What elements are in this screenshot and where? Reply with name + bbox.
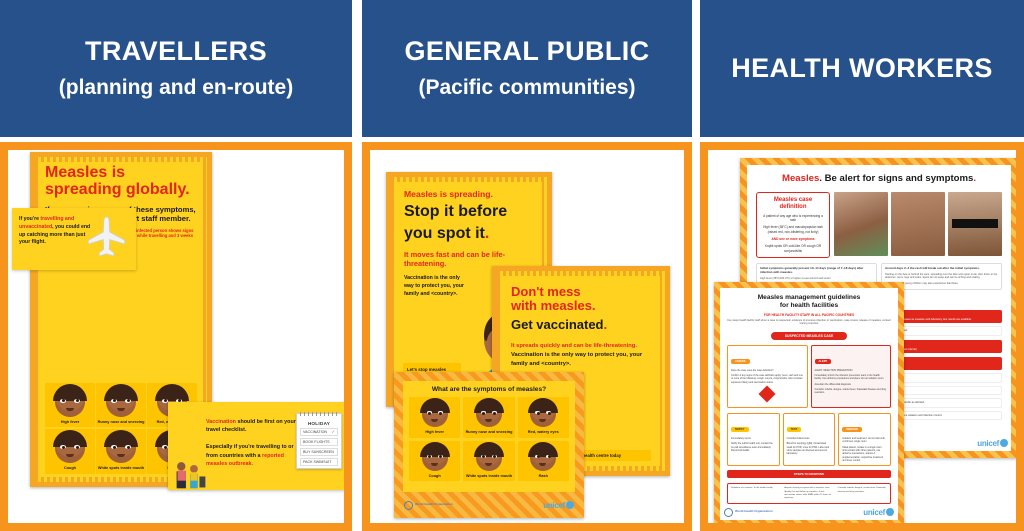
- clinical-photos: [834, 192, 1002, 258]
- panel-travellers-title: TRAVELLERS: [85, 36, 267, 67]
- photo-rash-back: [834, 192, 888, 256]
- guidelines-title-line2: for health facilities: [727, 302, 891, 310]
- symptom-item: White spots inside mouth: [96, 429, 146, 474]
- unicef-mark-icon: [1000, 439, 1008, 447]
- airplane-icon: [84, 214, 132, 262]
- flow-box-tab: MANAGE: [842, 427, 862, 432]
- face-red-watery-eyes-icon: [530, 401, 556, 427]
- flow-footer-col-3: Consider rubella, dengue, scarlet fever,…: [838, 487, 887, 499]
- case-definition-line-4: Koplik spots OR cold-like OR cough OR co…: [760, 244, 826, 253]
- guidelines-subtitle: FOR HEALTH FACILITY STAFF IN ALL PACIFIC…: [727, 313, 891, 317]
- note-item: Starting on the face or behind the ears,…: [885, 273, 998, 280]
- case-definition-title: Measles case definition: [760, 197, 826, 211]
- face-cough-icon: [422, 445, 448, 471]
- symptom-label: Cough: [64, 466, 76, 471]
- travellers-illustration-icon: [174, 446, 208, 490]
- notepad-item: BUY SUNSCREEN: [300, 448, 338, 456]
- poster-travelling-unvaccinated[interactable]: If you're travelling and unvaccinated, y…: [12, 208, 136, 270]
- symptom-label: Rash: [539, 474, 548, 479]
- flow-box-text: Immediately inform the infection prevent…: [815, 374, 888, 381]
- panel-health-workers-title: HEALTH WORKERS: [731, 53, 993, 84]
- poster-body-rest: Vaccination is the only way to protect y…: [511, 352, 642, 367]
- case-definition-line-1: A patient of any age who is experiencing…: [760, 214, 826, 223]
- case-definition-line-2: High fever (38°C) and maculopapular rash…: [760, 225, 826, 234]
- unicef-logo-label: unicef: [543, 501, 565, 510]
- poster-headline-line1: Stop it before: [404, 203, 534, 221]
- poster-body: Vaccination is the only way to protect y…: [404, 275, 464, 298]
- flow-box-tab: ASSESS: [731, 359, 750, 364]
- poster-title: Measles. Be alert for signs and symptoms…: [756, 173, 1002, 184]
- poster-title-rest: . Be alert for signs and symptoms: [819, 173, 973, 184]
- poster-headline-line1: Don't mess: [511, 285, 651, 299]
- flow-footer-col-1: Definition of a contact / In the health …: [731, 487, 780, 499]
- symptom-label: Red, watery eyes: [528, 430, 559, 435]
- panel-general-public-title: GENERAL PUBLIC: [404, 36, 649, 67]
- checklist-overlay-text: Vaccination should be first on your trav…: [206, 418, 298, 468]
- flow-box-text-2: Consider rubella, dengue, scarlet fever,…: [815, 388, 888, 395]
- poster-logos: World Health Organization unicef: [394, 494, 584, 516]
- face-white-spots-icon: [476, 445, 502, 471]
- who-globe-icon: [724, 508, 733, 517]
- holiday-notepad: HOLIDAY VACCINATION BOOK FLIGHTS BUY SUN…: [296, 413, 342, 469]
- flow-box-test: TEST Consider/collect tests Blood for se…: [783, 413, 836, 467]
- case-definition-row: Measles case definition A patient of any…: [756, 192, 1002, 258]
- guidelines-subtitle-2: Key steps health facility staff when a c…: [727, 319, 891, 326]
- who-globe-icon: [404, 501, 413, 510]
- face-runny-nose-icon: [106, 387, 136, 417]
- panel-general-public-body: Measles is spreading. Stop it before you…: [362, 142, 692, 531]
- poster-title-highlight: Measles: [782, 173, 819, 184]
- symptom-item: Rash: [518, 441, 569, 482]
- flow-box-text: Notify the public health unit, contact t…: [731, 442, 776, 452]
- poster-measles-management-guidelines[interactable]: Measles management guidelines for health…: [714, 282, 904, 523]
- poster-headline-line2: you spot it.: [404, 225, 534, 243]
- face-high-fever-icon: [55, 387, 85, 417]
- symptom-item: High fever: [45, 383, 95, 428]
- flow-row-actions: NOTIFY Immediately report Notify the pub…: [727, 413, 891, 467]
- symptom-item: Cough: [409, 441, 460, 482]
- panel-travellers-stage: Measles is spreading globally. If you ex…: [8, 150, 344, 523]
- poster-symptoms-of-measles[interactable]: What are the symptoms of measles? High f…: [394, 372, 584, 518]
- flow-node-steps-to-respond: STEPS TO RESPOND: [727, 470, 891, 478]
- unicef-logo: unicef: [863, 508, 894, 517]
- poster-kicker: Measles is spreading.: [404, 189, 534, 199]
- panel-travellers-subtitle: (planning and en-route): [59, 76, 293, 100]
- panel-general-public-subtitle: (Pacific communities): [418, 76, 635, 100]
- unicef-logo: unicef: [977, 439, 1008, 448]
- symptom-item: Runny nose and sneezing: [96, 383, 146, 428]
- checklist-text-highlight-1: Vaccination: [206, 419, 236, 425]
- privacy-bar: [952, 219, 997, 228]
- symptom-label: Cough: [429, 474, 441, 479]
- poster-logos: World Health Organization unicef: [714, 501, 904, 523]
- unicef-logo-label: unicef: [863, 508, 885, 517]
- symptom-label: White spots inside mouth: [98, 466, 144, 471]
- unicef-logo-label: unicef: [977, 439, 999, 448]
- flow-box-tab: ALERT: [815, 359, 832, 364]
- symptom-label: Runny nose and sneezing: [466, 430, 513, 435]
- flow-box-tab: TEST: [787, 427, 802, 432]
- symptom-label: White spots inside mouth: [466, 474, 512, 479]
- flow-box-notify: NOTIFY Immediately report Notify the pub…: [727, 413, 780, 467]
- poster-title: What are the symptoms of measles?: [409, 386, 569, 393]
- symptom-item: Cough: [45, 429, 95, 474]
- flow-box-heading: ALERT: INFECTION PREVENTION: [815, 369, 888, 372]
- symptom-item: Red, watery eyes: [518, 397, 569, 438]
- flow-footer-col-2: Anyone sharing air space with a measles …: [784, 487, 833, 499]
- overlay-text-part-1: If you're: [19, 216, 40, 222]
- photo-rash-face: [948, 192, 1002, 256]
- flow-box-heading: Consider/collect tests: [787, 437, 832, 440]
- symptom-item: Runny nose and sneezing: [463, 397, 514, 438]
- unicef-logo: unicef: [543, 501, 574, 510]
- unicef-mark-icon: [886, 508, 894, 516]
- note-item: High fever (38°C/100.4°F) or higher on-s…: [760, 277, 873, 281]
- symptom-grid: High fever Runny nose and sneezing Red, …: [409, 397, 569, 481]
- symptom-item: White spots inside mouth: [463, 441, 514, 482]
- poster-headline: Measles is spreading globally.: [45, 165, 197, 199]
- unicef-mark-icon: [566, 501, 574, 509]
- flow-node-suspected-case: SUSPECTED MEASLES CASE: [771, 332, 847, 340]
- symptom-label: High fever: [425, 430, 444, 435]
- notepad-item: BOOK FLIGHTS: [300, 438, 338, 446]
- symptom-label: High fever: [61, 420, 80, 425]
- flow-box-heading: Does the case meet the case definition?: [731, 369, 804, 372]
- notepad-item: VACCINATION: [300, 428, 338, 436]
- panel-health-workers: HEALTH WORKERS Measles. Be alert for sig…: [700, 0, 1024, 531]
- face-rash-icon: [530, 445, 556, 471]
- flow-box-assess: ASSESS Does the case meet the case defin…: [727, 345, 808, 408]
- face-cough-icon: [55, 433, 85, 463]
- face-runny-nose-icon: [476, 401, 502, 427]
- flow-box-tab: NOTIFY: [731, 427, 749, 432]
- notepad-title: HOLIDAY: [297, 421, 341, 426]
- panel-travellers-body: Measles is spreading globally. If you ex…: [0, 142, 352, 531]
- flow-box-text: Blood for serology (IgM), throat/nasal s…: [787, 442, 832, 455]
- flow-decision-diamond: [759, 385, 776, 402]
- panel-health-workers-header: HEALTH WORKERS: [700, 0, 1024, 137]
- poster-headline-line3: Get vaccinated.: [511, 318, 651, 332]
- symptom-item: High fever: [409, 397, 460, 438]
- flow-box-heading: Isolation and treatment: do not wait unt…: [842, 437, 887, 444]
- symptom-label: Runny nose and sneezing: [98, 420, 145, 425]
- flow-box-text: Confirm if any signs of the case definit…: [731, 374, 804, 384]
- flow-row-assess: ASSESS Does the case meet the case defin…: [727, 345, 891, 408]
- note-title: Around days 2–4 the rash will break out …: [885, 267, 998, 271]
- poster-content: What are the symptoms of measles? High f…: [403, 381, 575, 492]
- guidelines-title-line1: Measles management guidelines: [727, 294, 891, 302]
- panel-health-workers-stage: Measles. Be alert for signs and symptoms…: [708, 150, 1016, 523]
- face-white-spots-icon: [106, 433, 136, 463]
- poster-travel-checklist[interactable]: Vaccination should be first on your trav…: [168, 402, 344, 490]
- poster-overview-board: TRAVELLERS (planning and en-route) Measl…: [0, 0, 1024, 531]
- flow-box-heading-2: Ascertain the differential diagnosis: [815, 383, 888, 386]
- poster-body-highlight: It spreads quickly and can be life-threa…: [511, 343, 637, 349]
- notepad-spiral: [300, 412, 338, 416]
- notepad-item: PACK SWIMSUIT: [300, 458, 338, 466]
- measles-case-definition-box: Measles case definition A patient of any…: [756, 192, 830, 258]
- who-logo-label: World Health Organization: [415, 503, 453, 506]
- poster-body: It spreads quickly and can be life-threa…: [511, 342, 651, 370]
- who-logo: World Health Organization: [724, 508, 773, 517]
- face-high-fever-icon: [422, 401, 448, 427]
- who-logo: World Health Organization: [404, 501, 453, 510]
- flow-box-heading: Immediately report: [731, 437, 776, 440]
- poster-content: Measles management guidelines for health…: [720, 288, 898, 520]
- panel-general-public: GENERAL PUBLIC (Pacific communities) Mea…: [362, 0, 692, 531]
- panel-health-workers-body: Measles. Be alert for signs and symptoms…: [700, 142, 1024, 531]
- note-title: Initial symptoms generally present 10–14…: [760, 267, 873, 275]
- panel-general-public-stage: Measles is spreading. Stop it before you…: [370, 150, 684, 523]
- panel-travellers: TRAVELLERS (planning and en-route) Measl…: [0, 0, 352, 531]
- panel-travellers-header: TRAVELLERS (planning and en-route): [0, 0, 352, 137]
- poster-headline-line2: with measles.: [511, 299, 651, 313]
- flow-box-text: Mask patient, isolate in a single room, …: [842, 446, 887, 463]
- photo-rash-torso: [891, 192, 945, 256]
- who-logo-label: World Health Organization: [735, 510, 773, 513]
- case-definition-line-3: AND one or more symptoms: [760, 237, 826, 241]
- flow-box-manage: MANAGE Isolation and treatment: do not w…: [838, 413, 891, 467]
- flow-box-alert: ALERT ALERT: INFECTION PREVENTION Immedi…: [811, 345, 892, 408]
- panel-general-public-header: GENERAL PUBLIC (Pacific communities): [362, 0, 692, 137]
